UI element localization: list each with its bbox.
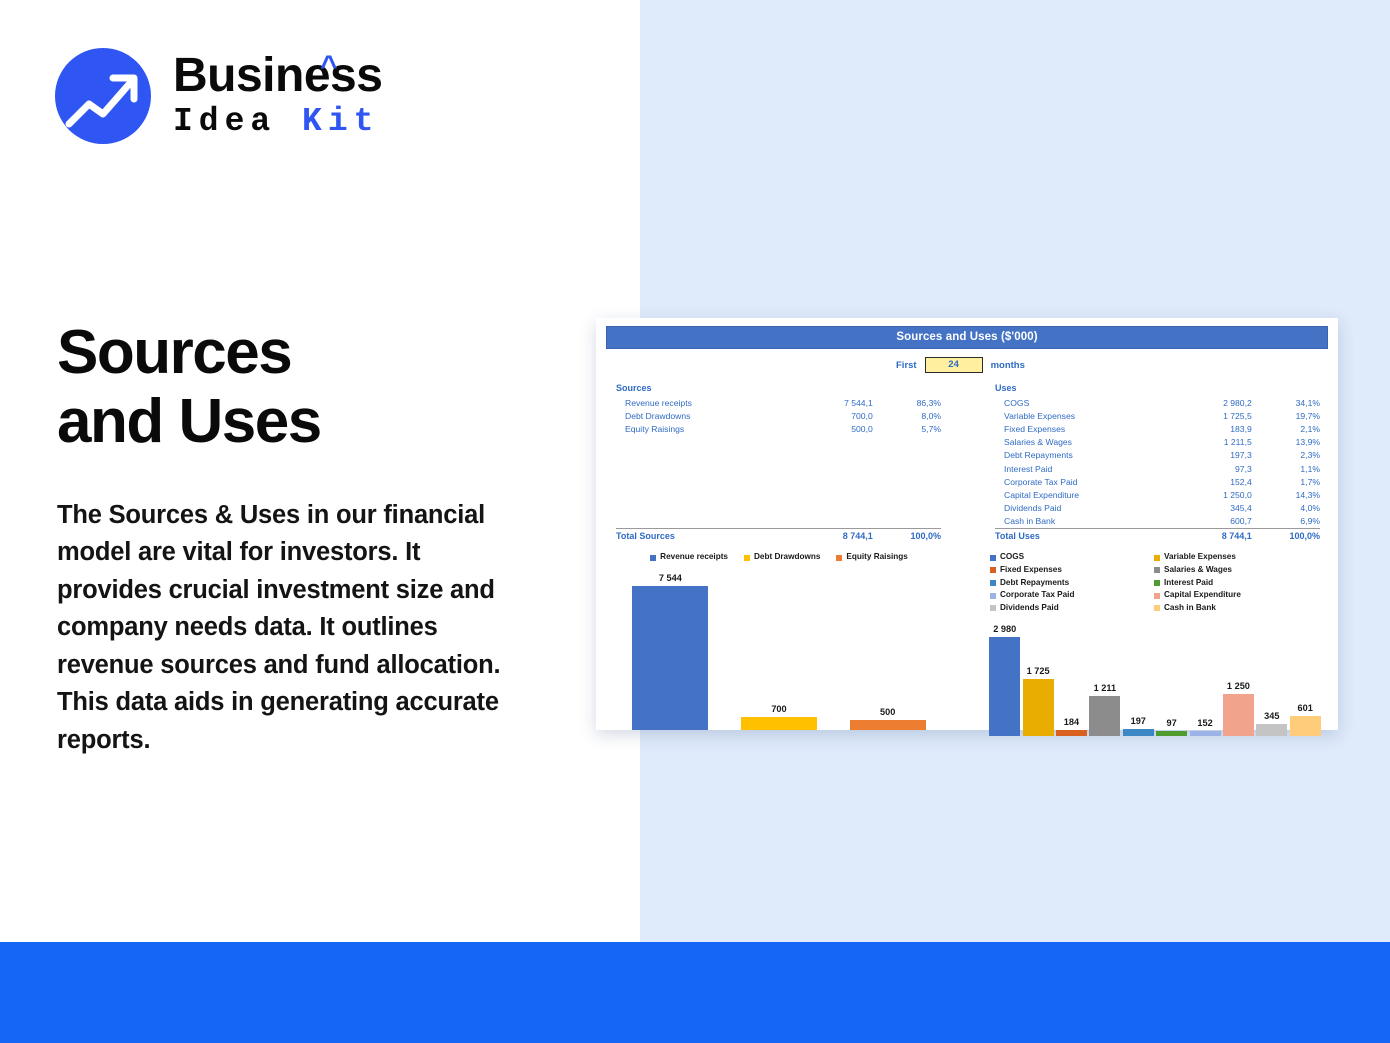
uses-header: Uses bbox=[995, 382, 1164, 397]
bar-column[interactable]: 500 bbox=[850, 570, 926, 730]
total-label: Total Uses bbox=[995, 528, 1164, 543]
total-percent: 100,0% bbox=[1252, 528, 1320, 543]
legend-item[interactable]: Equity Raisings bbox=[836, 551, 907, 564]
bar-column[interactable]: 1 211 bbox=[1089, 621, 1120, 736]
legend-item[interactable]: Revenue receipts bbox=[650, 551, 728, 564]
period-suffix-label: months bbox=[991, 360, 1025, 371]
legend-label: Dividends Paid bbox=[1000, 602, 1059, 615]
brand-name-primary: Business ^ bbox=[173, 52, 382, 101]
row-percent: 2,3% bbox=[1252, 449, 1320, 462]
legend-label: Variable Expenses bbox=[1164, 551, 1236, 564]
sources-header: Sources bbox=[616, 382, 785, 397]
bar-column[interactable]: 1 725 bbox=[1023, 621, 1054, 736]
table-spacer-row bbox=[616, 501, 941, 514]
row-label: Salaries & Wages bbox=[995, 436, 1164, 449]
footer-bar bbox=[0, 942, 1390, 1043]
bar[interactable] bbox=[1256, 724, 1287, 735]
legend-swatch-icon bbox=[1154, 593, 1160, 599]
row-value: 152,4 bbox=[1164, 475, 1252, 488]
brand-name-text: Business bbox=[173, 49, 382, 102]
row-label: Cash in Bank bbox=[995, 515, 1164, 529]
brand-name-secondary: Idea Kit bbox=[173, 103, 382, 141]
row-label: Revenue receipts bbox=[616, 397, 785, 410]
legend-label: Salaries & Wages bbox=[1164, 564, 1232, 577]
row-percent: 13,9% bbox=[1252, 436, 1320, 449]
row-label: COGS bbox=[995, 397, 1164, 410]
row-value: 700,0 bbox=[785, 410, 873, 423]
uses-table: Uses COGS2 980,234,1%Variable Expenses1 … bbox=[995, 382, 1320, 543]
bar-data-label: 2 980 bbox=[993, 624, 1016, 634]
legend-item[interactable]: Salaries & Wages bbox=[1154, 564, 1304, 577]
sources-bar-plot: 7 544700500 bbox=[610, 570, 948, 730]
bar[interactable] bbox=[1156, 731, 1187, 736]
bar[interactable] bbox=[1290, 716, 1321, 736]
bar-data-label: 700 bbox=[771, 704, 786, 714]
row-percent: 5,7% bbox=[873, 423, 941, 436]
row-value: 500,0 bbox=[785, 423, 873, 436]
row-label: Fixed Expenses bbox=[995, 423, 1164, 436]
row-label: Dividends Paid bbox=[995, 501, 1164, 514]
bar-data-label: 601 bbox=[1298, 703, 1313, 713]
total-percent: 100,0% bbox=[873, 528, 941, 543]
bar-data-label: 1 725 bbox=[1027, 666, 1050, 676]
row-value: 1 211,5 bbox=[1164, 436, 1252, 449]
row-value: 97,3 bbox=[1164, 462, 1252, 475]
legend-label: Cash in Bank bbox=[1164, 602, 1216, 615]
uses-bar-plot: 2 9801 7251841 211197971521 250345601 bbox=[986, 621, 1324, 736]
legend-swatch-icon bbox=[1154, 567, 1160, 573]
table-header-row: Uses bbox=[995, 382, 1320, 397]
row-label: Corporate Tax Paid bbox=[995, 475, 1164, 488]
row-value: 600,7 bbox=[1164, 515, 1252, 529]
legend-swatch-icon bbox=[836, 555, 842, 561]
bar[interactable] bbox=[1190, 731, 1221, 736]
sources-table: Sources Revenue receipts7 544,186,3%Debt… bbox=[616, 382, 941, 543]
legend-label: Debt Drawdowns bbox=[754, 551, 820, 564]
legend-swatch-icon bbox=[990, 605, 996, 611]
table-row: Variable Expenses1 725,519,7% bbox=[995, 410, 1320, 423]
row-percent: 1,1% bbox=[1252, 462, 1320, 475]
table-header-row: Sources bbox=[616, 382, 941, 397]
bar-data-label: 1 250 bbox=[1227, 681, 1250, 691]
bar[interactable] bbox=[850, 720, 926, 730]
row-value: 345,4 bbox=[1164, 501, 1252, 514]
legend-item[interactable]: Interest Paid bbox=[1154, 577, 1304, 590]
table-spacer-row bbox=[616, 436, 941, 449]
legend-item[interactable]: Dividends Paid bbox=[990, 602, 1140, 615]
legend-label: COGS bbox=[1000, 551, 1024, 564]
row-label: Variable Expenses bbox=[995, 410, 1164, 423]
sources-chart-legend: Revenue receiptsDebt DrawdownsEquity Rai… bbox=[610, 551, 948, 564]
brand-name-kit: Kit bbox=[302, 103, 379, 140]
bar-data-label: 184 bbox=[1064, 717, 1079, 727]
table-row: Interest Paid97,31,1% bbox=[995, 462, 1320, 475]
legend-item[interactable]: Debt Drawdowns bbox=[744, 551, 820, 564]
bar-data-label: 500 bbox=[880, 707, 895, 717]
bar-column[interactable]: 197 bbox=[1123, 621, 1154, 736]
bar-column[interactable]: 152 bbox=[1190, 621, 1221, 736]
brand-logo: Business ^ Idea Kit bbox=[55, 48, 382, 144]
legend-label: Capital Expenditure bbox=[1164, 589, 1241, 602]
legend-swatch-icon bbox=[744, 555, 750, 561]
bar[interactable] bbox=[989, 637, 1020, 736]
circumflex-accent-icon: ^ bbox=[320, 52, 337, 82]
legend-swatch-icon bbox=[990, 593, 996, 599]
legend-item[interactable]: Cash in Bank bbox=[1154, 602, 1304, 615]
table-row: Debt Repayments197,32,3% bbox=[995, 449, 1320, 462]
page-description: The Sources & Uses in our financial mode… bbox=[57, 497, 507, 759]
legend-swatch-icon bbox=[1154, 580, 1160, 586]
total-label: Total Sources bbox=[616, 528, 785, 543]
table-row: Equity Raisings500,05,7% bbox=[616, 423, 941, 436]
bar[interactable] bbox=[1223, 694, 1254, 736]
sources-chart: Revenue receiptsDebt DrawdownsEquity Rai… bbox=[610, 551, 948, 736]
legend-item[interactable]: COGS bbox=[990, 551, 1140, 564]
row-label: Debt Repayments bbox=[995, 449, 1164, 462]
legend-swatch-icon bbox=[990, 555, 996, 561]
row-percent: 14,3% bbox=[1252, 488, 1320, 501]
legend-label: Interest Paid bbox=[1164, 577, 1213, 590]
bar-data-label: 197 bbox=[1131, 716, 1146, 726]
row-value: 1 725,5 bbox=[1164, 410, 1252, 423]
bar-column[interactable]: 1 250 bbox=[1223, 621, 1254, 736]
total-value: 8 744,1 bbox=[785, 528, 873, 543]
legend-label: Fixed Expenses bbox=[1000, 564, 1062, 577]
legend-swatch-icon bbox=[650, 555, 656, 561]
bar-column[interactable]: 2 980 bbox=[989, 621, 1020, 736]
legend-label: Corporate Tax Paid bbox=[1000, 589, 1074, 602]
months-input[interactable]: 24 bbox=[925, 357, 983, 373]
charts-row: Revenue receiptsDebt DrawdownsEquity Rai… bbox=[606, 551, 1328, 736]
bar-column[interactable]: 184 bbox=[1056, 621, 1087, 736]
bar-data-label: 1 211 bbox=[1094, 683, 1116, 693]
table-row: Debt Drawdowns700,08,0% bbox=[616, 410, 941, 423]
summary-tables: Sources Revenue receipts7 544,186,3%Debt… bbox=[606, 382, 1328, 543]
bar-column[interactable]: 601 bbox=[1290, 621, 1321, 736]
table-row: Salaries & Wages1 211,513,9% bbox=[995, 436, 1320, 449]
uses-chart-legend: COGSVariable ExpensesFixed ExpensesSalar… bbox=[986, 551, 1324, 615]
total-value: 8 744,1 bbox=[1164, 528, 1252, 543]
brand-name-idea: Idea bbox=[173, 103, 276, 140]
legend-swatch-icon bbox=[1154, 555, 1160, 561]
legend-swatch-icon bbox=[990, 567, 996, 573]
table-spacer-row bbox=[616, 449, 941, 462]
table-row: Revenue receipts7 544,186,3% bbox=[616, 397, 941, 410]
bar[interactable] bbox=[741, 717, 817, 730]
growth-arrow-icon bbox=[55, 48, 151, 144]
row-label: Capital Expenditure bbox=[995, 488, 1164, 501]
table-row: Capital Expenditure1 250,014,3% bbox=[995, 488, 1320, 501]
table-row: Corporate Tax Paid152,41,7% bbox=[995, 475, 1320, 488]
page-title: Sources and Uses bbox=[57, 318, 577, 457]
table-row: Fixed Expenses183,92,1% bbox=[995, 423, 1320, 436]
legend-item[interactable]: Variable Expenses bbox=[1154, 551, 1304, 564]
row-value: 197,3 bbox=[1164, 449, 1252, 462]
legend-item[interactable]: Fixed Expenses bbox=[990, 564, 1140, 577]
period-selector-row: First 24 months bbox=[606, 357, 1328, 373]
row-percent: 6,9% bbox=[1252, 515, 1320, 529]
card-title: Sources and Uses ($'000) bbox=[606, 326, 1328, 349]
bar-data-label: 152 bbox=[1197, 718, 1212, 728]
row-percent: 1,7% bbox=[1252, 475, 1320, 488]
bar[interactable] bbox=[1123, 729, 1154, 736]
bar-data-label: 7 544 bbox=[659, 573, 682, 583]
bar-data-label: 97 bbox=[1167, 718, 1177, 728]
bar-column[interactable]: 700 bbox=[741, 570, 817, 730]
uses-chart: COGSVariable ExpensesFixed ExpensesSalar… bbox=[986, 551, 1324, 736]
row-value: 1 250,0 bbox=[1164, 488, 1252, 501]
table-total-row: Total Sources8 744,1100,0% bbox=[616, 528, 941, 543]
row-value: 183,9 bbox=[1164, 423, 1252, 436]
row-label: Interest Paid bbox=[995, 462, 1164, 475]
table-row: Cash in Bank600,76,9% bbox=[995, 515, 1320, 529]
bar[interactable] bbox=[1023, 679, 1054, 736]
legend-item[interactable]: Debt Repayments bbox=[990, 577, 1140, 590]
bar-column[interactable]: 345 bbox=[1256, 621, 1287, 736]
bar[interactable] bbox=[1056, 730, 1087, 736]
table-spacer-row bbox=[616, 475, 941, 488]
bar-column[interactable]: 7 544 bbox=[632, 570, 708, 730]
row-percent: 19,7% bbox=[1252, 410, 1320, 423]
period-prefix-label: First bbox=[896, 360, 917, 371]
legend-label: Equity Raisings bbox=[846, 551, 907, 564]
table-spacer-row bbox=[616, 462, 941, 475]
row-label: Equity Raisings bbox=[616, 423, 785, 436]
legend-item[interactable]: Corporate Tax Paid bbox=[990, 589, 1140, 602]
legend-swatch-icon bbox=[1154, 605, 1160, 611]
bar-data-label: 345 bbox=[1264, 711, 1279, 721]
bar[interactable] bbox=[1089, 696, 1120, 736]
slide-canvas: Business ^ Idea Kit Sources and Uses The… bbox=[0, 0, 1390, 1043]
row-label: Debt Drawdowns bbox=[616, 410, 785, 423]
table-total-row: Total Uses8 744,1100,0% bbox=[995, 528, 1320, 543]
legend-label: Debt Repayments bbox=[1000, 577, 1069, 590]
table-spacer-row bbox=[616, 515, 941, 529]
row-percent: 86,3% bbox=[873, 397, 941, 410]
bar-column[interactable]: 97 bbox=[1156, 621, 1187, 736]
table-row: Dividends Paid345,44,0% bbox=[995, 501, 1320, 514]
legend-swatch-icon bbox=[990, 580, 996, 586]
row-value: 2 980,2 bbox=[1164, 397, 1252, 410]
bar[interactable] bbox=[632, 586, 708, 730]
row-percent: 34,1% bbox=[1252, 397, 1320, 410]
legend-item[interactable]: Capital Expenditure bbox=[1154, 589, 1304, 602]
table-row: COGS2 980,234,1% bbox=[995, 397, 1320, 410]
row-percent: 8,0% bbox=[873, 410, 941, 423]
row-percent: 2,1% bbox=[1252, 423, 1320, 436]
row-value: 7 544,1 bbox=[785, 397, 873, 410]
legend-label: Revenue receipts bbox=[660, 551, 728, 564]
table-spacer-row bbox=[616, 488, 941, 501]
spreadsheet-card: Sources and Uses ($'000) First 24 months… bbox=[596, 318, 1338, 730]
row-percent: 4,0% bbox=[1252, 501, 1320, 514]
